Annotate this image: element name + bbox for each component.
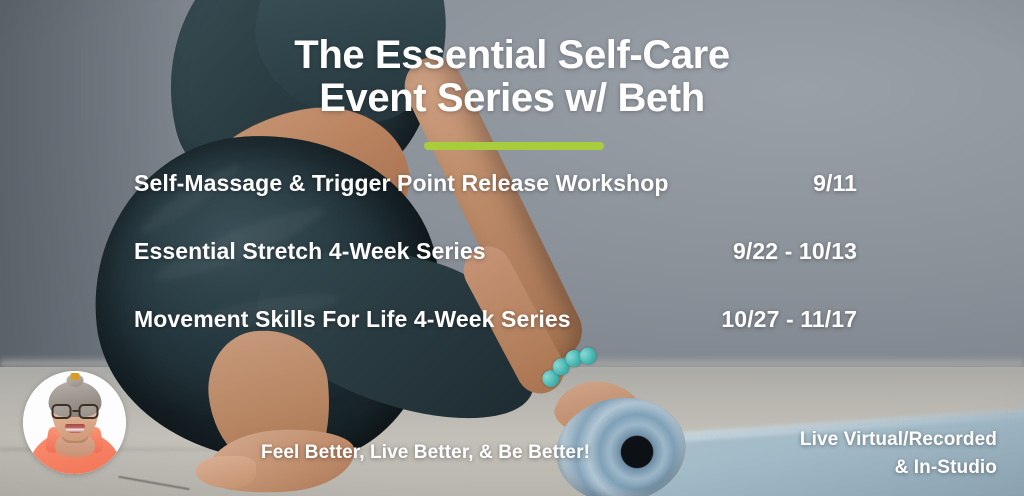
event-name: Movement Skills For Life 4-Week Series	[134, 298, 571, 333]
list-item[interactable]: Essential Stretch 4-Week Series 9/22 - 1…	[134, 230, 857, 298]
title-line-2: Event Series w/ Beth	[0, 77, 1024, 120]
event-date: 9/11	[813, 162, 857, 197]
format-line-2: & In-Studio	[800, 454, 997, 482]
format-note: Live Virtual/Recorded & In-Studio	[800, 426, 997, 481]
avatar-smile	[65, 424, 85, 433]
avatar-lens-right	[78, 404, 98, 419]
format-line-1: Live Virtual/Recorded	[800, 426, 997, 454]
title-line-1: The Essential Self-Care	[294, 33, 729, 77]
event-name: Essential Stretch 4-Week Series	[134, 230, 486, 265]
page-title: The Essential Self-Care Event Series w/ …	[0, 34, 1024, 120]
event-name: Self-Massage & Trigger Point Release Wor…	[134, 162, 669, 197]
promo-poster: The Essential Self-Care Event Series w/ …	[0, 0, 1024, 496]
event-date: 10/27 - 11/17	[721, 298, 857, 333]
green-accent-rule	[424, 142, 604, 150]
event-list: Self-Massage & Trigger Point Release Wor…	[134, 162, 857, 366]
avatar	[23, 371, 126, 474]
text-overlay: The Essential Self-Care Event Series w/ …	[0, 0, 1024, 496]
avatar-lens-left	[51, 404, 71, 419]
tagline: Feel Better, Live Better, & Be Better!	[261, 442, 590, 464]
avatar-hair-clip	[70, 373, 79, 380]
event-date: 9/22 - 10/13	[733, 230, 857, 265]
list-item[interactable]: Movement Skills For Life 4-Week Series 1…	[134, 298, 857, 366]
list-item[interactable]: Self-Massage & Trigger Point Release Wor…	[134, 162, 857, 230]
glasses-icon	[50, 404, 99, 419]
